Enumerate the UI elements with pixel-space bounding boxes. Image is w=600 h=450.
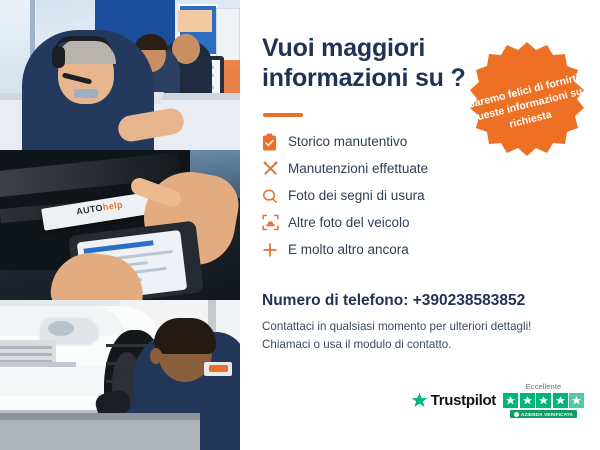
trustpilot-star-icon	[411, 392, 428, 409]
star-5	[569, 393, 584, 408]
benefit-label: Altre foto del veicolo	[288, 215, 410, 230]
star-4	[553, 393, 568, 408]
contact-subtext-line-2: Chiamaci o usa il modulo di contatto.	[262, 336, 562, 354]
star-2	[520, 393, 535, 408]
benefit-item-much-more: E molto altro ancora	[262, 236, 492, 263]
star-1	[503, 393, 518, 408]
benefit-item-wear-photos: Foto dei segni di usura	[262, 182, 492, 209]
page-title: Vuoi maggiori informazioni su ?	[262, 34, 472, 93]
content-panel: Vuoi maggiori informazioni su ? Saremo f…	[240, 0, 600, 450]
benefit-label: Foto dei segni di usura	[288, 188, 425, 203]
contact-subtext: Contattaci in qualsiasi momento per ulte…	[262, 318, 562, 354]
car-scan-frame-icon	[262, 212, 288, 234]
photo-vehicle-inspection-tablet: AUTOhelp	[0, 150, 240, 300]
benefit-label: E molto altro ancora	[288, 242, 409, 257]
title-underline-divider	[263, 113, 303, 117]
benefit-item-maintenance-history: Storico manutentivo	[262, 128, 492, 155]
contact-subtext-line-1: Contattaci in qualsiasi momento per ulte…	[262, 318, 562, 336]
clipboard-check-icon	[262, 131, 288, 153]
benefit-label: Manutenzioni effettuate	[288, 161, 428, 176]
verified-company-label: AZIENDA VERIFICATA	[521, 412, 573, 417]
trustpilot-widget[interactable]: Trustpilot Eccellente	[411, 382, 584, 418]
page-title-line-2: informazioni su ?	[262, 64, 472, 94]
magnifier-icon	[262, 185, 288, 207]
crossed-tools-icon	[262, 158, 288, 180]
trustpilot-rating-label: Eccellente	[526, 382, 562, 391]
phone-number-line[interactable]: Numero di telefono: +390238583852	[262, 292, 525, 310]
trustpilot-stars	[503, 393, 584, 408]
promo-banner: AUTOhelp	[0, 0, 600, 450]
trustpilot-rating: Eccellente	[503, 382, 584, 418]
page-title-line-1: Vuoi maggiori	[262, 34, 472, 64]
plus-icon	[262, 239, 288, 261]
star-3	[536, 393, 551, 408]
photo-call-center-agent-headset	[0, 0, 240, 150]
photo-mechanic-wheel-check	[0, 300, 240, 450]
verified-check-icon	[514, 412, 519, 417]
benefit-item-maintenance-done: Manutenzioni effettuate	[262, 155, 492, 182]
verified-company-badge: AZIENDA VERIFICATA	[510, 410, 577, 418]
photo-column: AUTOhelp	[0, 0, 240, 450]
trustpilot-brand: Trustpilot	[411, 392, 496, 409]
benefit-item-more-photos: Altre foto del veicolo	[262, 209, 492, 236]
benefits-list: Storico manutentivo Manutenzioni effettu…	[262, 128, 492, 263]
headset-icon	[457, 40, 479, 62]
trustpilot-wordmark: Trustpilot	[431, 392, 496, 409]
benefit-label: Storico manutentivo	[288, 134, 407, 149]
